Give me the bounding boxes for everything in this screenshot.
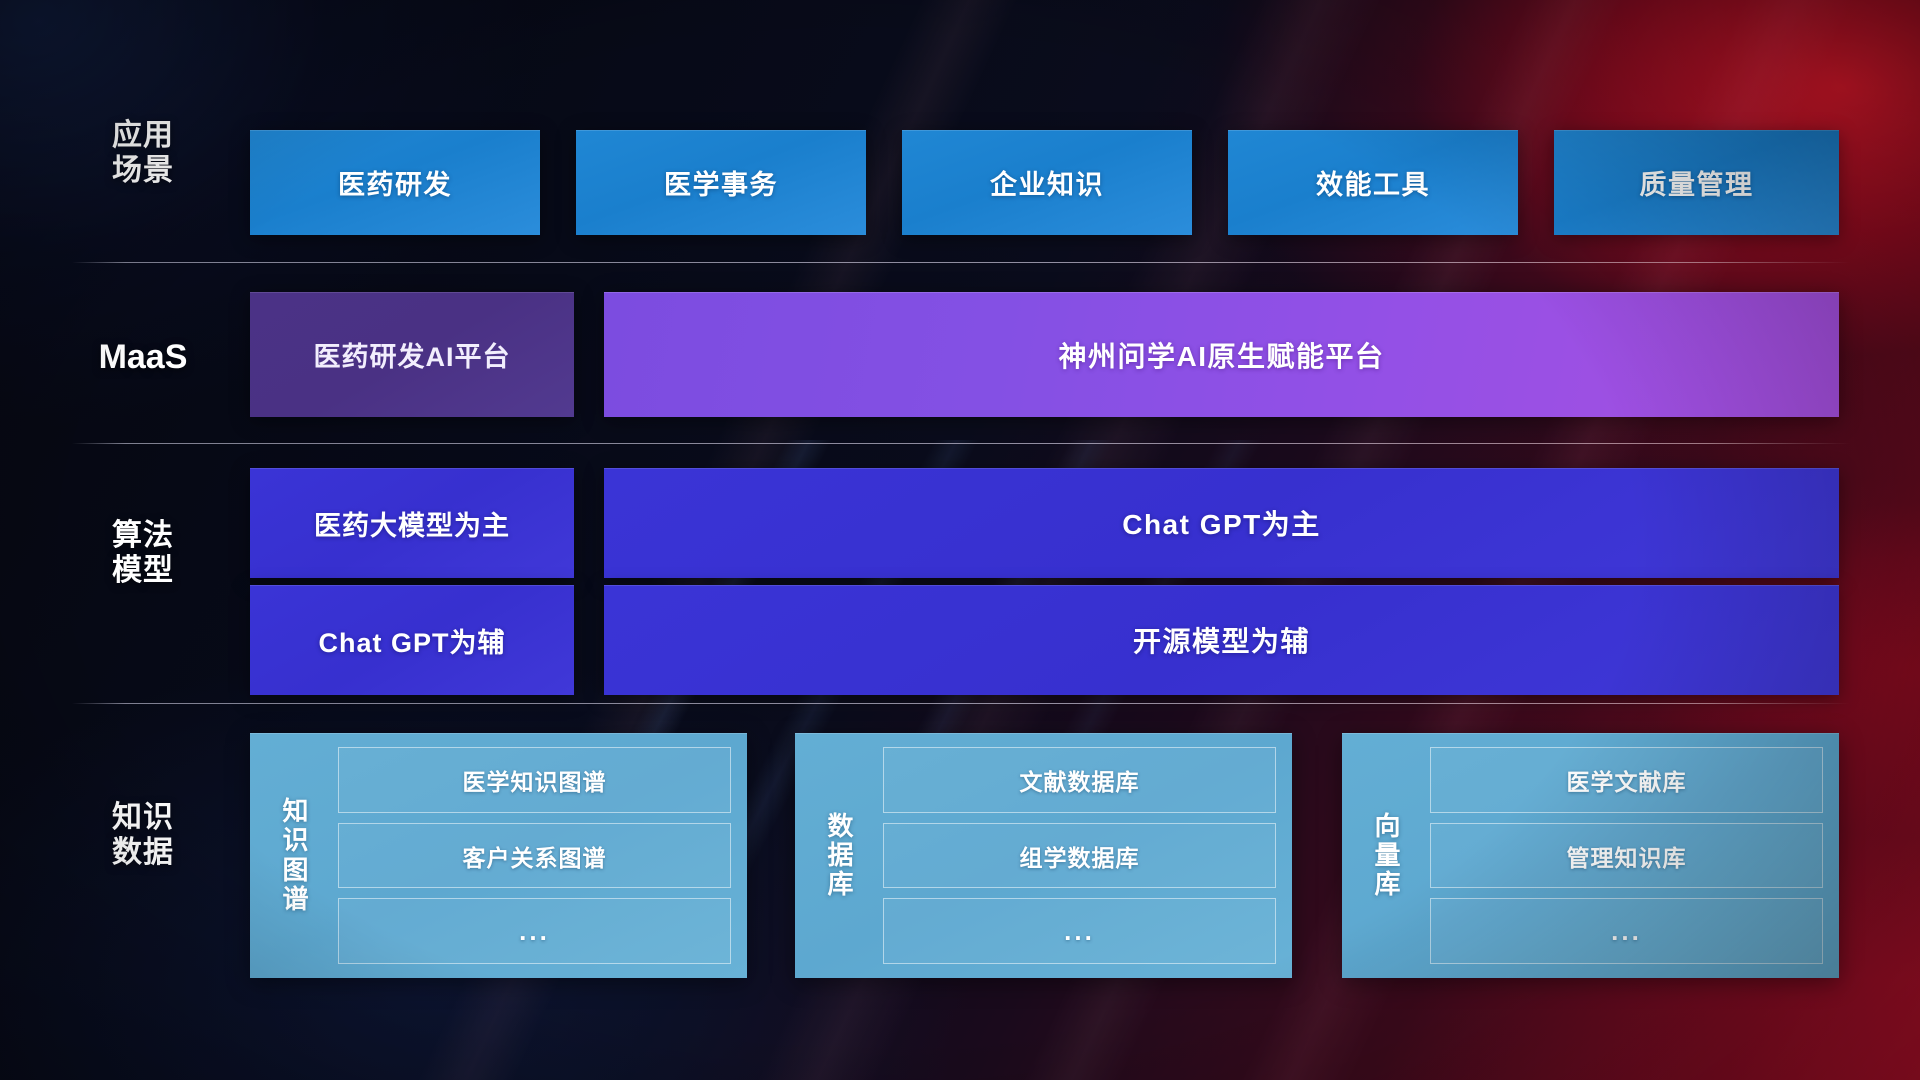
knowledge-item-medical-literature-library[interactable]: 医学文献库 bbox=[1430, 747, 1823, 813]
algorithm-card-chatgpt-secondary[interactable]: Chat GPT为辅 bbox=[250, 585, 574, 695]
divider-tier3-tier4 bbox=[72, 703, 1850, 704]
knowledge-panel-title-knowledge-graph: 知识图谱 bbox=[260, 747, 332, 964]
knowledge-item-list: 医学文献库 管理知识库 ... bbox=[1424, 747, 1823, 964]
algorithm-card-opensource-model-secondary[interactable]: 开源模型为辅 bbox=[604, 585, 1839, 695]
tier-label-algorithm-models: 算法模型 bbox=[88, 518, 198, 589]
knowledge-item-literature-database[interactable]: 文献数据库 bbox=[883, 747, 1276, 813]
app-card-quality-management[interactable]: 质量管理 bbox=[1554, 130, 1839, 235]
knowledge-item-omics-database[interactable]: 组学数据库 bbox=[883, 823, 1276, 889]
app-card-enterprise-knowledge[interactable]: 企业知识 bbox=[902, 130, 1192, 235]
knowledge-item-more[interactable]: ... bbox=[883, 898, 1276, 964]
tier-label-maas: MaaS bbox=[88, 337, 198, 377]
knowledge-item-medical-knowledge-graph[interactable]: 医学知识图谱 bbox=[338, 747, 731, 813]
maas-card-medicine-rd-ai-platform[interactable]: 医药研发AI平台 bbox=[250, 292, 574, 417]
app-card-medical-affairs[interactable]: 医学事务 bbox=[576, 130, 866, 235]
knowledge-item-customer-relation-graph[interactable]: 客户关系图谱 bbox=[338, 823, 731, 889]
app-card-efficiency-tools[interactable]: 效能工具 bbox=[1228, 130, 1518, 235]
algorithm-card-chatgpt-primary[interactable]: Chat GPT为主 bbox=[604, 468, 1839, 578]
knowledge-item-management-knowledge-base[interactable]: 管理知识库 bbox=[1430, 823, 1823, 889]
maas-card-shenzhou-wenxue-platform[interactable]: 神州问学AI原生赋能平台 bbox=[604, 292, 1839, 417]
knowledge-panel-title-vector-store: 向量库 bbox=[1352, 747, 1424, 964]
knowledge-panel-database[interactable]: 数据库 文献数据库 组学数据库 ... bbox=[795, 733, 1292, 978]
divider-tier1-tier2 bbox=[72, 262, 1850, 263]
app-card-medicine-rd[interactable]: 医药研发 bbox=[250, 130, 540, 235]
knowledge-item-list: 医学知识图谱 客户关系图谱 ... bbox=[332, 747, 731, 964]
tier-label-knowledge-data: 知识数据 bbox=[88, 800, 198, 871]
knowledge-item-list: 文献数据库 组学数据库 ... bbox=[877, 747, 1276, 964]
knowledge-panel-knowledge-graph[interactable]: 知识图谱 医学知识图谱 客户关系图谱 ... bbox=[250, 733, 747, 978]
knowledge-panel-title-database: 数据库 bbox=[805, 747, 877, 964]
knowledge-item-more[interactable]: ... bbox=[338, 898, 731, 964]
tier-label-application-scenarios: 应用场景 bbox=[88, 118, 198, 189]
algorithm-card-medicine-large-model-primary[interactable]: 医药大模型为主 bbox=[250, 468, 574, 578]
diagram-canvas: 应用场景 医药研发 医学事务 企业知识 效能工具 质量管理 MaaS 医药研发A… bbox=[0, 0, 1920, 1080]
knowledge-panel-vector-store[interactable]: 向量库 医学文献库 管理知识库 ... bbox=[1342, 733, 1839, 978]
divider-tier2-tier3 bbox=[72, 443, 1850, 444]
knowledge-item-more[interactable]: ... bbox=[1430, 898, 1823, 964]
